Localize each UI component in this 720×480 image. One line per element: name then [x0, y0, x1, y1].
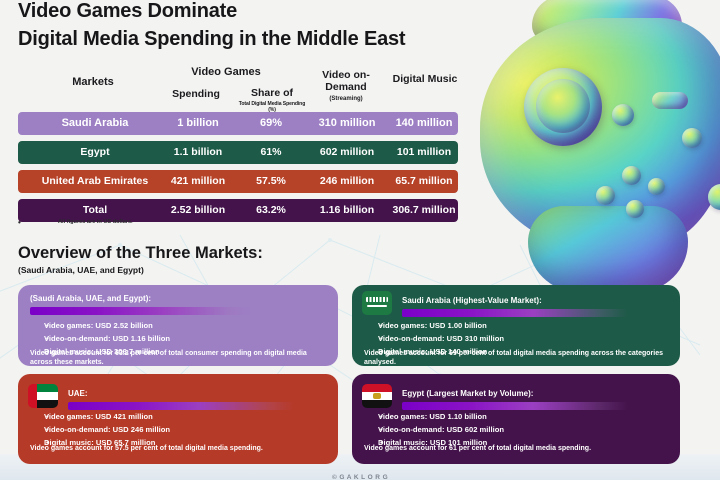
- spending-table: Markets Video Games Spending Share of To…: [18, 62, 458, 228]
- card-egypt: Egypt (Largest Market by Volume): Video …: [352, 374, 680, 464]
- table-footnote: • All figures are in US dollars.: [18, 219, 133, 225]
- card-heading: (Saudi Arabia, UAE, and Egypt):: [30, 294, 151, 303]
- card-accent-bar: [402, 309, 628, 317]
- cell-market: Egypt: [26, 141, 164, 164]
- column-header-share-main: Share of: [251, 87, 293, 99]
- card-saudi-arabia: Saudi Arabia (Highest-Value Market): Vid…: [352, 285, 680, 366]
- controller-pill-button: [652, 92, 688, 109]
- controller-face-button-4: [648, 178, 665, 195]
- list-item: Video-on-demand: USD 602 million: [378, 424, 504, 436]
- controller-grip: [528, 206, 688, 292]
- controller-analog-stick: [524, 68, 602, 146]
- saudi-arabia-flag-icon: [362, 291, 392, 315]
- table-row: Egypt 1.1 billion 61% 602 million 101 mi…: [18, 141, 458, 164]
- column-header-spending: Spending: [158, 89, 234, 101]
- bullet-dot-icon: •: [18, 218, 21, 227]
- cell-vod: 246 million: [306, 170, 388, 193]
- table-footnote-text: All figures are in US dollars.: [58, 219, 133, 225]
- cell-vod: 602 million: [306, 141, 388, 164]
- cell-vod: 1.16 billion: [306, 199, 388, 222]
- cell-spending: 1.1 billion: [160, 141, 236, 164]
- infographic-canvas: Video Games Dominate Digital Media Spend…: [0, 0, 720, 480]
- cell-market: United Arab Emirates: [26, 170, 164, 193]
- card-combined-markets: (Saudi Arabia, UAE, and Egypt): Video ga…: [18, 285, 338, 366]
- card-note: Video games account for 63.2 per cent of…: [30, 349, 330, 368]
- overview-subtitle: (Saudi Arabia, UAE, and Egypt): [18, 265, 144, 275]
- card-note: Video games account for 61 per cent of t…: [364, 444, 674, 453]
- cell-vod: 310 million: [306, 112, 388, 135]
- list-item: Video games: USD 1.10 billion: [378, 411, 504, 423]
- column-header-video-on-demand: Video on-Demand (Streaming): [306, 70, 386, 102]
- card-accent-bar: [68, 402, 294, 410]
- card-note: Video games account for 69 per cent of t…: [364, 349, 672, 368]
- controller-face-button-3: [622, 166, 641, 185]
- list-item: Video-on-demand: USD 310 million: [378, 333, 504, 345]
- cell-share: 69%: [236, 112, 306, 135]
- card-note: Video games account for 57.5 per cent of…: [30, 444, 330, 453]
- cell-market: Saudi Arabia: [26, 112, 164, 135]
- cell-share: 63.2%: [236, 199, 306, 222]
- column-header-markets: Markets: [48, 76, 138, 88]
- column-header-share: Share of Total Digital Media Spending (%…: [236, 88, 308, 113]
- card-heading: Egypt (Largest Market by Volume):: [402, 389, 533, 398]
- column-header-vod-main: Video on-Demand: [322, 69, 370, 93]
- card-uae: UAE: Video games: USD 421 million Video-…: [18, 374, 338, 464]
- list-item: Video games: USD 1.00 billion: [378, 320, 504, 332]
- list-item: Video games: USD 2.52 billion: [44, 320, 170, 332]
- overview-title: Overview of the Three Markets:: [18, 244, 263, 263]
- cell-spending: 421 million: [160, 170, 236, 193]
- controller-face-button-2: [682, 128, 702, 148]
- cell-music: 140 million: [388, 112, 460, 135]
- column-header-vod-sub: (Streaming): [306, 96, 386, 103]
- uae-flag-icon: [28, 384, 58, 408]
- table-row: United Arab Emirates 421 million 57.5% 2…: [18, 170, 458, 193]
- cell-share: 61%: [236, 141, 306, 164]
- cell-share: 57.5%: [236, 170, 306, 193]
- holographic-game-controller-image: [470, 0, 720, 288]
- list-item: Video-on-demand: USD 1.16 billion: [44, 333, 170, 345]
- page-title-line-1: Video Games Dominate: [18, 0, 237, 23]
- table-header-row: Markets Video Games Spending Share of To…: [18, 62, 458, 112]
- column-header-digital-music: Digital Music: [390, 74, 460, 86]
- cell-music: 65.7 million: [388, 170, 460, 193]
- credit-line: © G A K L O R G: [0, 474, 720, 480]
- cell-music: 306.7 million: [388, 199, 460, 222]
- egypt-flag-icon: [362, 384, 392, 408]
- table-row: Saudi Arabia 1 billion 69% 310 million 1…: [18, 112, 458, 135]
- page-title-line-2: Digital Media Spending in the Middle Eas…: [18, 28, 405, 51]
- cell-spending: 2.52 billion: [160, 199, 236, 222]
- card-accent-bar: [402, 402, 628, 410]
- card-accent-bar: [30, 307, 256, 315]
- card-heading: UAE:: [68, 389, 88, 398]
- controller-face-button-1: [612, 104, 634, 126]
- cell-music: 101 million: [388, 141, 460, 164]
- controller-face-button-5: [596, 186, 615, 205]
- list-item: Video games: USD 421 million: [44, 411, 170, 423]
- list-item: Video-on-demand: USD 246 million: [44, 424, 170, 436]
- cell-spending: 1 billion: [160, 112, 236, 135]
- column-header-video-games-group: Video Games: [166, 66, 286, 78]
- controller-face-button-6: [626, 200, 644, 218]
- card-heading: Saudi Arabia (Highest-Value Market):: [402, 296, 542, 305]
